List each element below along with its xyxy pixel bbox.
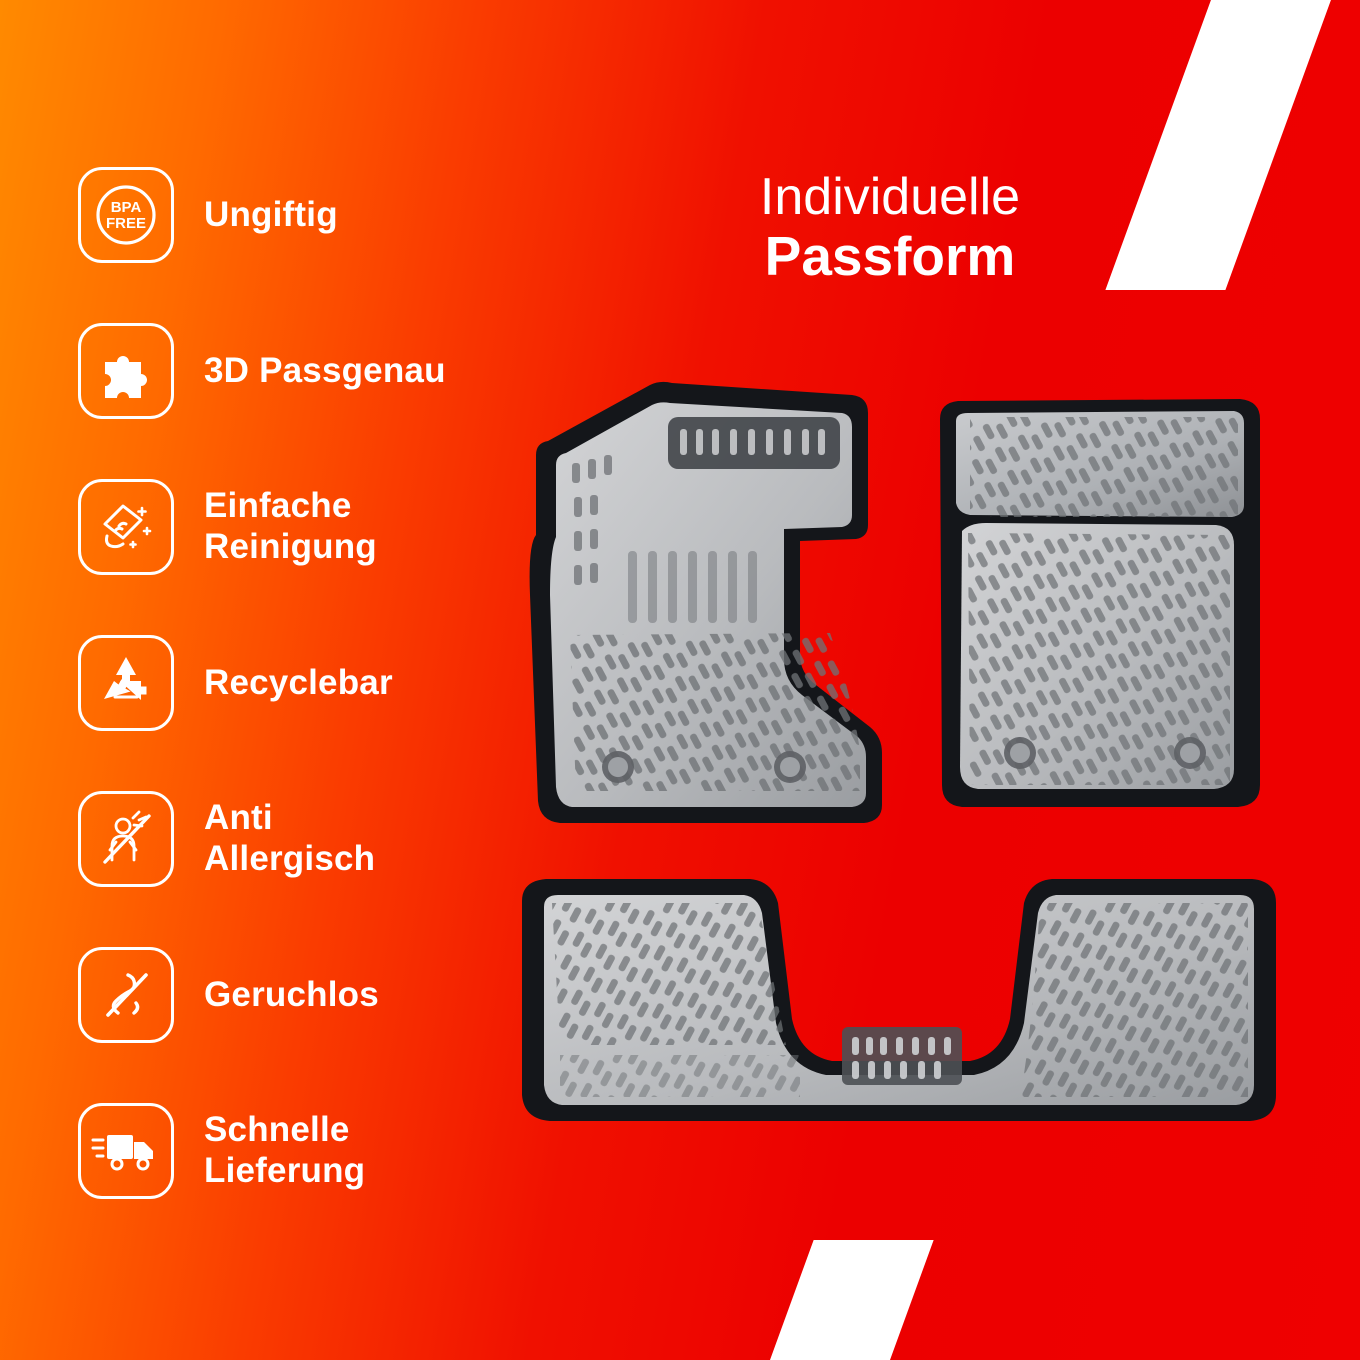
feature-label: Schnelle Lieferung <box>204 1110 365 1191</box>
feature-label: Ungiftig <box>204 195 338 236</box>
cleaning-hand-icon <box>78 479 174 575</box>
feature-label: Einfache Reinigung <box>204 486 377 567</box>
headline-line-1: Individuelle <box>640 168 1140 226</box>
feature-item-anti-allergisch: Anti Allergisch <box>78 784 548 894</box>
delivery-truck-icon <box>78 1103 174 1199</box>
feature-label: Recyclebar <box>204 663 393 704</box>
front-right-mat <box>940 399 1260 807</box>
feature-label: 3D Passgenau <box>204 351 446 392</box>
svg-text:FREE: FREE <box>106 215 146 232</box>
feature-label: Geruchlos <box>204 975 379 1016</box>
headline-line-2: Passform <box>640 226 1140 288</box>
decorative-slash-bottom <box>766 1240 933 1360</box>
feature-list: BPA FREE Ungiftig 3D Passgenau <box>78 160 548 1206</box>
anti-allergy-icon <box>78 791 174 887</box>
svg-text:BPA: BPA <box>111 199 142 216</box>
feature-label: Anti Allergisch <box>204 798 375 879</box>
recycle-icon <box>78 635 174 731</box>
bpa-free-icon: BPA FREE <box>78 167 174 263</box>
no-odour-icon <box>78 947 174 1043</box>
front-left-mat <box>530 382 882 823</box>
feature-item-3d-passgenau: 3D Passgenau <box>78 316 548 426</box>
rear-bench-mat <box>522 879 1276 1121</box>
feature-item-schnelle-lieferung: Schnelle Lieferung <box>78 1096 548 1206</box>
promo-poster: Individuelle Passform BPA FREE Ungiftig … <box>0 0 1360 1360</box>
feature-item-recyclebar: Recyclebar <box>78 628 548 738</box>
feature-item-einfache-reinigung: Einfache Reinigung <box>78 472 548 582</box>
feature-item-geruchlos: Geruchlos <box>78 940 548 1050</box>
feature-item-ungiftig: BPA FREE Ungiftig <box>78 160 548 270</box>
car-floor-mats-set <box>500 355 1300 1175</box>
page-title: Individuelle Passform <box>640 168 1140 288</box>
puzzle-piece-icon <box>78 323 174 419</box>
